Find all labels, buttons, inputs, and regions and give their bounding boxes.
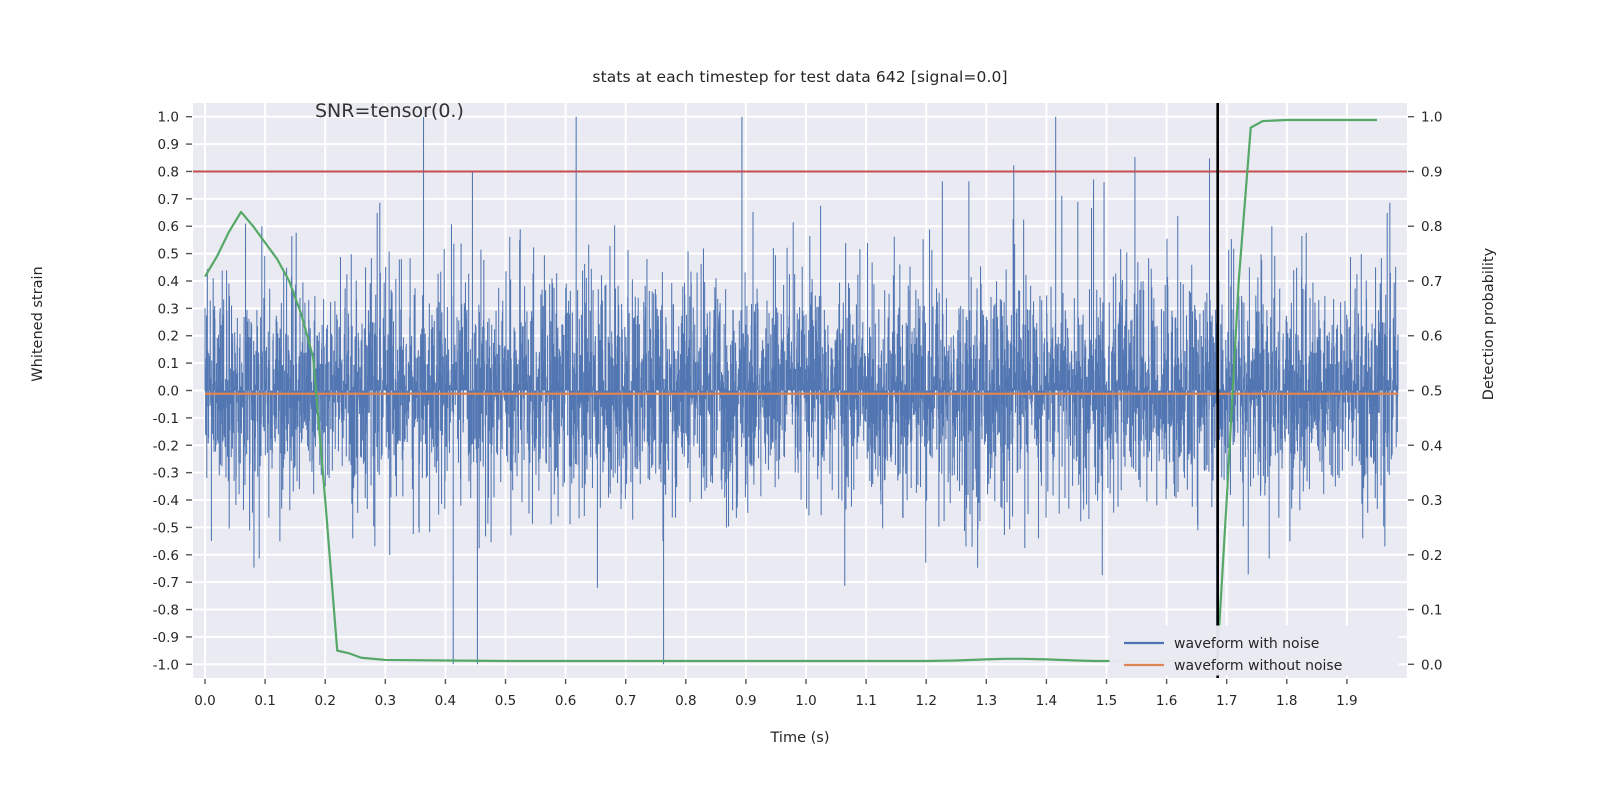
x-tick-label: 0.4 — [435, 693, 456, 709]
y-tick-label-right: 0.0 — [1421, 657, 1442, 673]
x-tick-label: 1.8 — [1276, 693, 1297, 709]
y-tick-label-right: 0.4 — [1421, 438, 1442, 454]
x-axis-label: Time (s) — [0, 730, 1600, 746]
y-axis-ticks-right: 1.00.90.80.70.60.50.40.30.20.10.0 — [1408, 110, 1442, 674]
x-tick-label: 1.0 — [795, 693, 816, 709]
legend-label: waveform with noise — [1174, 636, 1319, 652]
y-tick-label-right: 1.0 — [1421, 110, 1442, 126]
y-tick-label-right: 0.2 — [1421, 548, 1442, 564]
y-tick-label-right: 0.1 — [1421, 603, 1442, 619]
x-tick-label: 0.9 — [735, 693, 756, 709]
y-tick-label-left: -0.3 — [153, 466, 179, 482]
y-axis-label-right: Detection probability — [1481, 204, 1497, 444]
y-tick-label-left: 0.8 — [158, 164, 179, 180]
y-tick-label-left: 0.5 — [158, 247, 179, 263]
y-tick-label-left: 0.0 — [158, 384, 179, 400]
x-tick-label: 1.5 — [1096, 693, 1117, 709]
y-tick-label-right: 0.7 — [1421, 274, 1442, 290]
y-tick-label-left: -0.6 — [153, 548, 179, 564]
y-tick-label-left: 0.2 — [158, 329, 179, 345]
y-tick-label-left: 0.7 — [158, 192, 179, 208]
x-tick-label: 1.6 — [1156, 693, 1177, 709]
y-tick-label-left: 0.4 — [158, 274, 179, 290]
x-tick-label: 0.2 — [314, 693, 335, 709]
y-tick-label-left: -0.5 — [153, 520, 179, 536]
y-tick-label-left: 0.9 — [158, 137, 179, 153]
x-tick-label: 1.2 — [915, 693, 936, 709]
y-tick-label-left: -0.7 — [153, 575, 179, 591]
y-tick-label-left: -0.4 — [153, 493, 179, 509]
y-axis-ticks-left: 1.00.90.80.70.60.50.40.30.20.10.0-0.1-0.… — [153, 110, 192, 674]
figure-canvas: stats at each timestep for test data 642… — [0, 0, 1600, 800]
y-tick-label-left: 1.0 — [158, 110, 179, 126]
y-tick-label-right: 0.5 — [1421, 384, 1442, 400]
y-tick-label-left: -1.0 — [153, 657, 179, 673]
x-tick-label: 0.0 — [194, 693, 215, 709]
y-tick-label-right: 0.9 — [1421, 164, 1442, 180]
y-tick-label-left: -0.9 — [153, 630, 179, 646]
y-axis-label-left: Whitened strain — [30, 224, 46, 424]
y-tick-label-left: 0.1 — [158, 356, 179, 372]
y-tick-label-left: -0.2 — [153, 438, 179, 454]
y-tick-label-left: -0.1 — [153, 411, 179, 427]
y-tick-label-left: 0.6 — [158, 219, 179, 235]
x-tick-label: 0.1 — [254, 693, 275, 709]
x-tick-label: 1.4 — [1036, 693, 1057, 709]
legend: waveform with noisewaveform without nois… — [1110, 626, 1398, 675]
x-tick-label: 0.6 — [555, 693, 576, 709]
x-tick-label: 0.8 — [675, 693, 696, 709]
x-tick-label: 0.7 — [615, 693, 636, 709]
x-tick-label: 1.9 — [1336, 693, 1357, 709]
snr-annotation: SNR=tensor(0.) — [315, 100, 464, 122]
y-tick-label-right: 0.8 — [1421, 219, 1442, 235]
x-tick-label: 1.1 — [855, 693, 876, 709]
x-tick-label: 0.5 — [495, 693, 516, 709]
y-tick-label-left: -0.8 — [153, 603, 179, 619]
y-tick-label-right: 0.3 — [1421, 493, 1442, 509]
x-tick-label: 1.7 — [1216, 693, 1237, 709]
y-tick-label-right: 0.6 — [1421, 329, 1442, 345]
x-axis-ticks: 0.00.10.20.30.40.50.60.70.80.91.01.11.21… — [194, 679, 1357, 709]
plot-area: 0.00.10.20.30.40.50.60.70.80.91.01.11.21… — [0, 0, 1600, 800]
legend-label: waveform without noise — [1174, 658, 1342, 674]
chart-title: stats at each timestep for test data 642… — [0, 68, 1600, 86]
x-tick-label: 1.3 — [976, 693, 997, 709]
x-tick-label: 0.3 — [375, 693, 396, 709]
y-tick-label-left: 0.3 — [158, 301, 179, 317]
